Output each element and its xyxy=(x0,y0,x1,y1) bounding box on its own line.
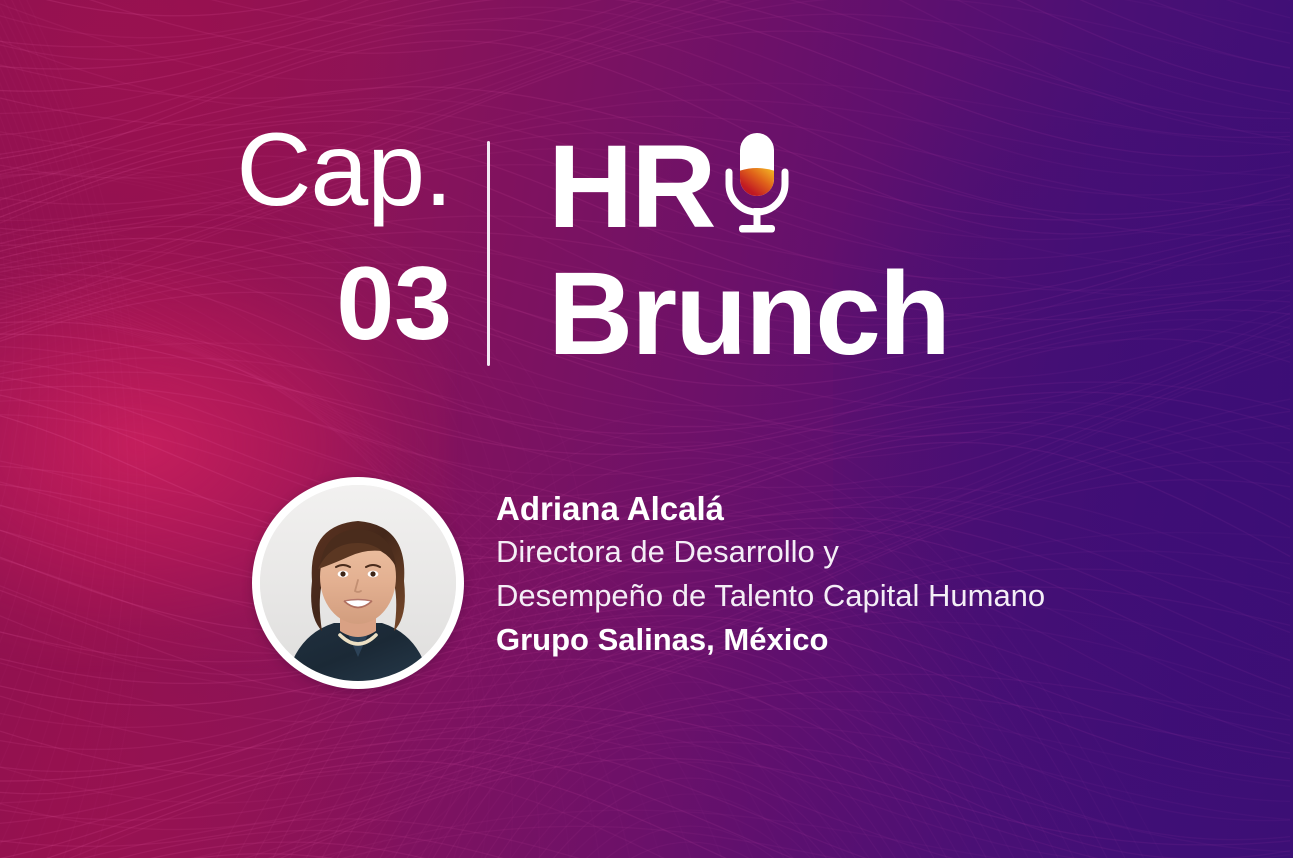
title-block: Cap. 03 HR xyxy=(0,0,1293,420)
brand-name-line-1: HR xyxy=(548,128,794,246)
episode-label: Cap. xyxy=(0,118,452,222)
brand-name-line-2: Brunch xyxy=(548,255,949,373)
podcast-episode-card: Cap. 03 HR xyxy=(0,0,1293,858)
speaker-role-line-1: Directora de Desarrollo y xyxy=(496,530,1196,574)
avatar-photo-clip xyxy=(260,485,456,681)
brand-hr-text: HR xyxy=(548,128,714,246)
vertical-divider xyxy=(487,141,490,366)
speaker-organization: Grupo Salinas, México xyxy=(496,620,1196,660)
speaker-role-line-2: Desempeño de Talento Capital Humano xyxy=(496,574,1196,618)
avatar-portrait xyxy=(260,485,456,681)
episode-number: 03 xyxy=(0,252,452,356)
avatar xyxy=(252,477,464,689)
wine-microphone-icon xyxy=(720,130,794,238)
speaker-info: Adriana Alcalá Directora de Desarrollo y… xyxy=(496,488,1196,660)
speaker-name: Adriana Alcalá xyxy=(496,488,1196,530)
